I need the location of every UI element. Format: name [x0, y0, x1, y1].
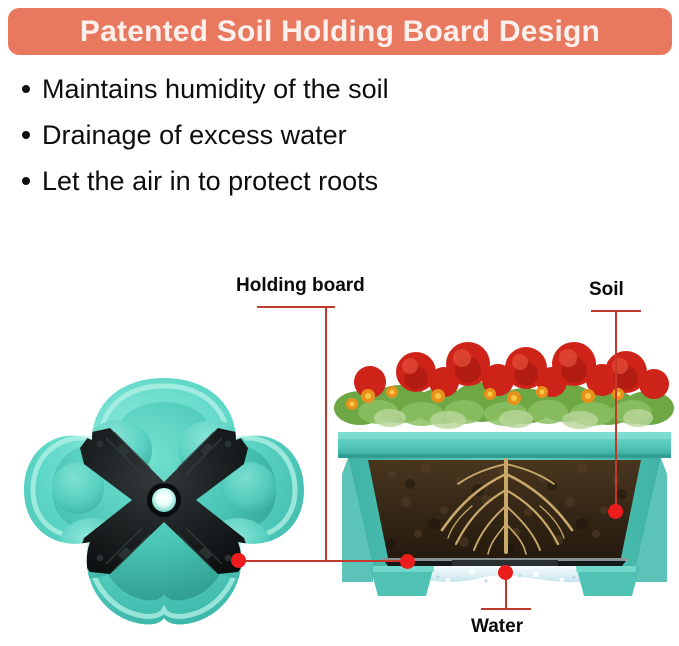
plant-foliage — [334, 342, 674, 429]
infographic-root: Patented Soil Holding Board Design Maint… — [0, 0, 679, 646]
callout-label-water: Water — [471, 617, 523, 636]
feature-text: Let the air in to protect roots — [42, 162, 378, 200]
header-banner: Patented Soil Holding Board Design — [8, 8, 672, 55]
marker-dot-water — [498, 565, 513, 580]
bullet-dot-icon — [22, 177, 30, 185]
bullet-dot-icon — [22, 85, 30, 93]
leader-line-holding-board-bar — [257, 306, 335, 308]
callout-label-soil: Soil — [589, 280, 624, 299]
feature-text: Maintains humidity of the soil — [42, 70, 389, 108]
marker-dot-soil — [608, 504, 623, 519]
leader-line-holding-board-right — [325, 560, 409, 562]
marker-dot-holding-board-left — [231, 553, 246, 568]
marker-dot-holding-board-right — [400, 554, 415, 569]
list-item: Let the air in to protect roots — [22, 162, 622, 208]
leader-line-soil-stem — [615, 310, 617, 508]
feature-list: Maintains humidity of the soil Drainage … — [22, 70, 622, 208]
page-title: Patented Soil Holding Board Design — [80, 17, 600, 47]
list-item: Maintains humidity of the soil — [22, 70, 622, 116]
bullet-dot-icon — [22, 131, 30, 139]
leader-line-holding-board-left — [244, 560, 327, 562]
clover-planter-illustration — [14, 372, 314, 640]
leader-line-holding-board-stem — [325, 306, 327, 561]
center-drain-hole — [152, 488, 176, 512]
feature-text: Drainage of excess water — [42, 116, 347, 154]
leader-line-water-stem — [505, 578, 507, 610]
top-view-planter-image — [14, 372, 314, 640]
callout-label-holding-board: Holding board — [236, 276, 365, 295]
planter-rim — [338, 432, 671, 458]
list-item: Drainage of excess water — [22, 116, 622, 162]
